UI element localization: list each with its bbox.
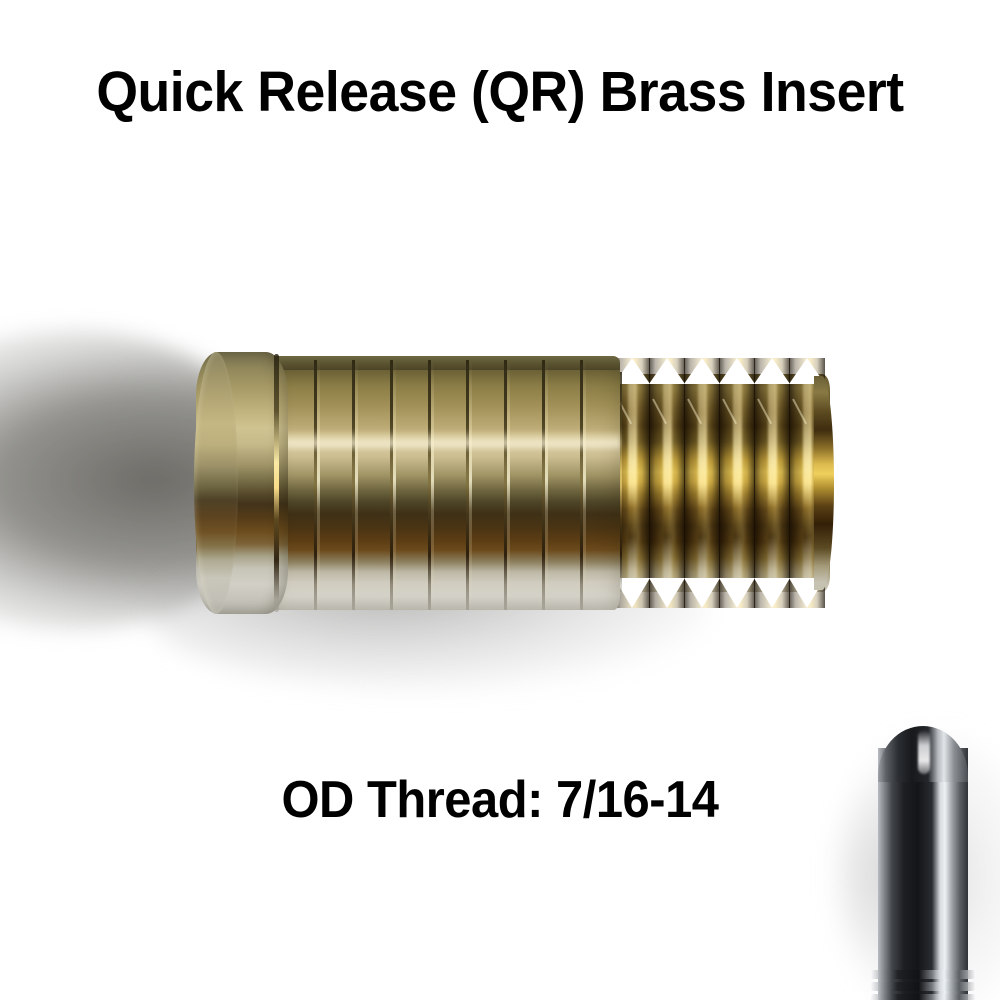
thread-end-crest — [814, 376, 834, 590]
barrel-groove — [466, 360, 469, 610]
thread-tooth — [684, 358, 720, 608]
thread-crest-top — [684, 358, 720, 384]
thread-tooth — [754, 358, 790, 608]
barrel-groove — [504, 360, 507, 610]
barrel-specular-highlight — [270, 430, 620, 452]
thread-peak — [628, 380, 637, 586]
product-image-canvas: Quick Release (QR) Brass Insert OD Threa… — [0, 0, 1000, 1000]
barrel-top-edge — [270, 356, 620, 370]
thread-crest-top — [719, 358, 755, 384]
rod-thread-ridge — [870, 982, 976, 991]
barrel-groove — [390, 360, 393, 610]
end-cap-rim-line — [274, 354, 279, 612]
rod-thread-ridge — [870, 994, 976, 1000]
thread-crest-top — [754, 358, 790, 384]
thread-peak — [698, 380, 707, 586]
product-photo — [0, 0, 1000, 1000]
barrel-groove — [314, 360, 317, 610]
thread-tooth — [719, 358, 755, 608]
barrel-groove — [580, 360, 583, 610]
thread-peak — [663, 380, 672, 586]
thread-crest-bottom — [754, 578, 790, 608]
thread-crest-bottom — [719, 578, 755, 608]
barrel-groove — [352, 360, 355, 610]
steel-rod — [878, 726, 968, 1000]
rod-specular-highlight — [918, 730, 930, 774]
rod-thread-ridge — [870, 970, 976, 979]
thread-crest-bottom — [649, 578, 685, 608]
thread-peak — [768, 380, 777, 586]
thread-crest-bottom — [684, 578, 720, 608]
page-title: Quick Release (QR) Brass Insert — [30, 62, 970, 122]
thread-peak — [803, 380, 812, 586]
thread-spec-label: OD Thread: 7/16-14 — [30, 772, 970, 828]
barrel-groove — [428, 360, 431, 610]
thread-tooth — [649, 358, 685, 608]
barrel-groove — [542, 360, 545, 610]
insert-barrel — [270, 360, 620, 610]
brass-insert — [196, 352, 830, 614]
thread-section — [614, 358, 830, 608]
end-cap-front-face — [194, 352, 238, 614]
thread-peak — [733, 380, 742, 586]
thread-crest-top — [649, 358, 685, 384]
